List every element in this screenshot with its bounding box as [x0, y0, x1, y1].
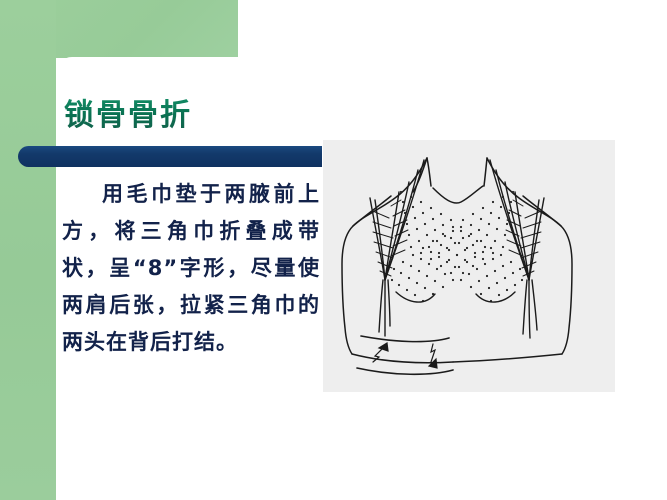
- clavicle-bandage-illustration: [323, 140, 615, 392]
- presentation-slide: 锁骨骨折 用毛巾垫于两腋前上方，将三角巾折叠成带状，呈“8”字形，尽量使两肩后张…: [0, 0, 667, 500]
- page-title: 锁骨骨折: [64, 90, 192, 134]
- body-paragraph: 用毛巾垫于两腋前上方，将三角巾折叠成带状，呈“8”字形，尽量使两肩后张，拉紧三角…: [62, 176, 320, 361]
- illustration-panel: [323, 140, 615, 392]
- title-divider-bar: [18, 146, 322, 167]
- green-side-strip: [0, 0, 56, 500]
